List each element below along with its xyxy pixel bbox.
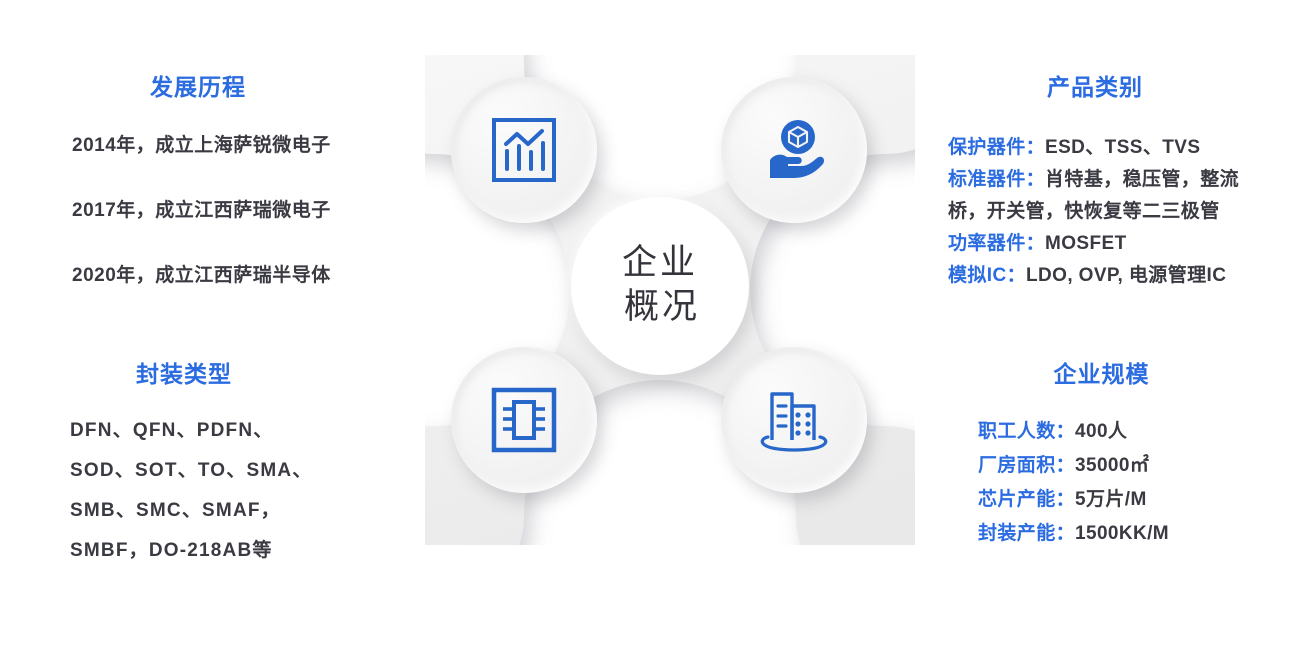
item-label: 模拟IC： <box>948 265 1026 286</box>
scale-list: 职工人数：400人 厂房面积：35000㎡ 芯片产能：5万片/M 封装产能：15… <box>900 416 1303 545</box>
center-label: 企业 概况 <box>571 197 749 375</box>
package-list: DFN、QFN、PDFN、 SOD、SOT、TO、SMA、 SMB、SMC、SM… <box>0 415 420 562</box>
central-diagram: 企业 概况 <box>425 55 915 545</box>
heading-product-category: 产品类别 <box>945 68 1245 102</box>
list-item: 功率器件：MOSFET <box>948 228 1303 255</box>
item-value: 400人 <box>1075 421 1127 442</box>
list-item: 封装产能：1500KK/M <box>978 518 1303 545</box>
list-item: 桥，开关管，快恢复等二三极管 <box>948 196 1303 223</box>
buildings-icon <box>754 382 834 458</box>
item-label: 职工人数： <box>978 421 1075 442</box>
item-value: 桥，开关管，快恢复等二三极管 <box>948 201 1220 222</box>
list-item: SMBF，DO-218AB等 <box>70 535 420 562</box>
item-value: MOSFET <box>1045 233 1127 254</box>
item-label: 保护器件： <box>948 137 1045 158</box>
item-label: 标准器件： <box>948 169 1045 190</box>
list-item: 模拟IC：LDO, OVP, 电源管理IC <box>948 260 1303 287</box>
center-line-2: 概况 <box>620 286 700 330</box>
chip-icon <box>486 382 562 458</box>
heading-enterprise-scale: 企业规模 <box>900 355 1303 389</box>
list-item: SMB、SMC、SMAF， <box>70 495 420 522</box>
list-item: SOD、SOT、TO、SMA、 <box>70 455 420 482</box>
list-item: 2020年，成立江西萨瑞半导体 <box>72 260 420 287</box>
item-value: 35000㎡ <box>1075 455 1149 476</box>
node-product[interactable] <box>721 77 867 223</box>
item-value: 5万片/M <box>1075 489 1147 510</box>
list-item: 厂房面积：35000㎡ <box>978 450 1303 477</box>
list-item: 标准器件：肖特基，稳压管，整流 <box>948 164 1303 191</box>
list-item: 职工人数：400人 <box>978 416 1303 443</box>
item-label: 厂房面积： <box>978 455 1075 476</box>
list-item: 保护器件：ESD、TSS、TVS <box>948 132 1303 159</box>
list-item: 芯片产能：5万片/M <box>978 484 1303 511</box>
node-history[interactable] <box>451 77 597 223</box>
item-value: 1500KK/M <box>1075 523 1169 544</box>
panel-development-history: 发展历程 2014年，成立上海萨锐微电子 2017年，成立江西萨瑞微电子 202… <box>0 68 420 325</box>
heading-package-type: 封装类型 <box>14 355 354 389</box>
panel-enterprise-scale: 企业规模 职工人数：400人 厂房面积：35000㎡ 芯片产能：5万片/M 封装… <box>900 355 1303 552</box>
item-value: ESD、TSS、TVS <box>1045 137 1200 158</box>
list-item: DFN、QFN、PDFN、 <box>70 415 420 442</box>
list-item: 2014年，成立上海萨锐微电子 <box>72 130 420 157</box>
item-value: 肖特基，稳压管，整流 <box>1045 169 1239 190</box>
heading-development-history: 发展历程 <box>18 68 378 102</box>
item-value: LDO, OVP, 电源管理IC <box>1026 265 1226 286</box>
product-list: 保护器件：ESD、TSS、TVS 标准器件：肖特基，稳压管，整流 桥，开关管，快… <box>900 132 1303 287</box>
node-scale[interactable] <box>721 347 867 493</box>
item-label: 封装产能： <box>978 523 1075 544</box>
panel-package-type: 封装类型 DFN、QFN、PDFN、 SOD、SOT、TO、SMA、 SMB、S… <box>0 355 420 575</box>
chart-icon <box>486 112 562 188</box>
panel-product-category: 产品类别 保护器件：ESD、TSS、TVS 标准器件：肖特基，稳压管，整流 桥，… <box>900 68 1303 292</box>
list-item: 2017年，成立江西萨瑞微电子 <box>72 195 420 222</box>
item-label: 芯片产能： <box>978 489 1075 510</box>
node-package[interactable] <box>451 347 597 493</box>
hand-holding-box-icon <box>754 112 834 188</box>
item-label: 功率器件： <box>948 233 1045 254</box>
history-list: 2014年，成立上海萨锐微电子 2017年，成立江西萨瑞微电子 2020年，成立… <box>0 130 420 287</box>
center-line-1: 企业 <box>622 242 698 286</box>
